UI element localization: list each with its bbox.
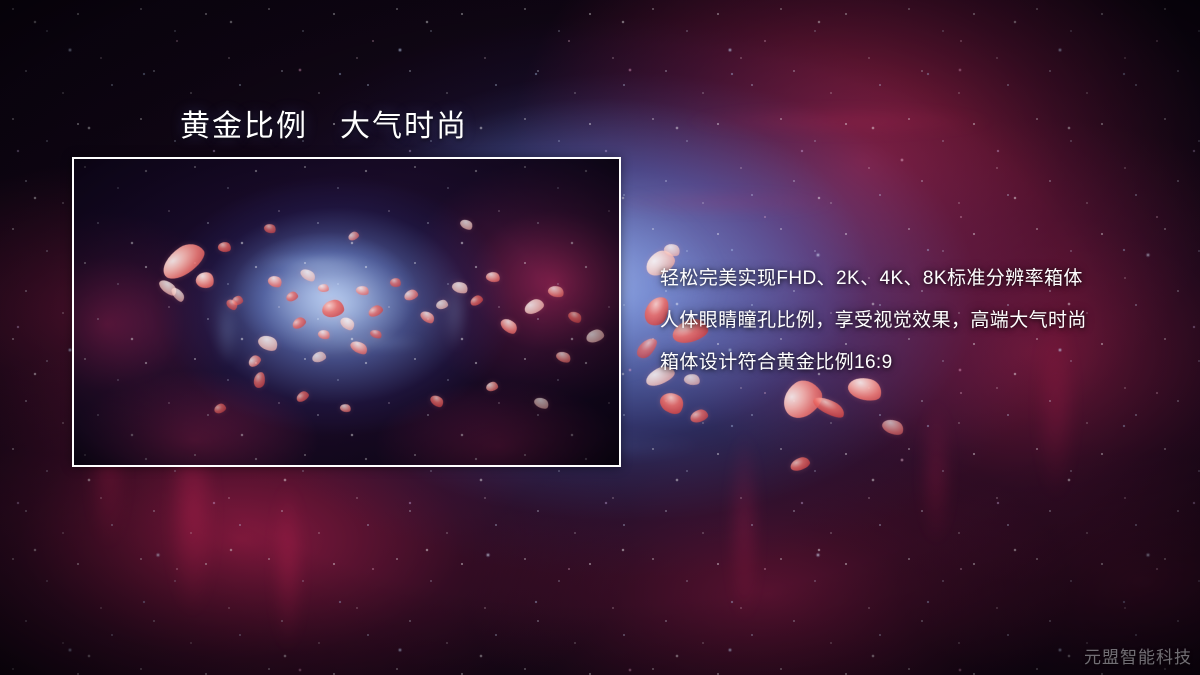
watermark: 元盟智能科技	[1084, 643, 1192, 668]
framed-image-content	[74, 159, 619, 465]
body-text-block: 轻松完美实现FHD、2K、4K、8K标准分辨率箱体 人体眼睛瞳孔比例，享受视觉效…	[660, 258, 1180, 384]
page-title: 黄金比例 大气时尚	[180, 101, 468, 145]
body-line-2: 人体眼睛瞳孔比例，享受视觉效果，高端大气时尚	[660, 300, 1180, 342]
body-line-1: 轻松完美实现FHD、2K、4K、8K标准分辨率箱体	[660, 258, 1180, 300]
presentation-slide: 黄金比例 大气时尚 轻松完美实现FHD、2K、4K、8K标准分辨率箱体 人体眼睛…	[0, 0, 1200, 675]
inner-vignette	[74, 159, 619, 465]
body-line-3: 箱体设计符合黄金比例16:9	[660, 342, 1180, 384]
framed-image-16-9[interactable]	[72, 157, 621, 467]
